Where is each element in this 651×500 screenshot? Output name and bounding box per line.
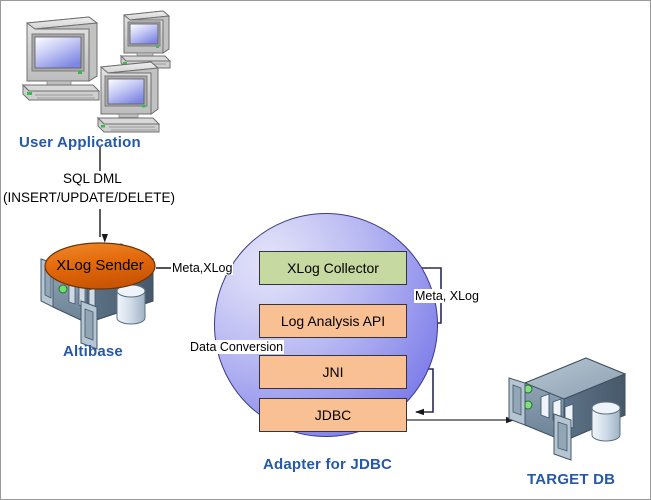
sql-dml-label-line1: SQL DML xyxy=(63,171,122,187)
box-xlog-collector-label: XLog Collector xyxy=(287,260,379,276)
adapter-label: Adapter for JDBC xyxy=(263,456,392,473)
server-rack-icon-target xyxy=(509,358,625,460)
data-conversion-label: Data Conversion xyxy=(189,340,284,354)
meta-xlog-right-label: Meta, XLog xyxy=(414,289,480,303)
box-log-analysis-api-label: Log Analysis API xyxy=(281,313,385,329)
database-cylinder-icon-altibase xyxy=(117,285,145,324)
sql-dml-label-line2: (INSERT/UPDATE/DELETE) xyxy=(3,190,175,206)
meta-xlog-in-label: Meta,XLog xyxy=(171,261,233,275)
xlog-sender-label: XLog Sender xyxy=(45,257,155,274)
box-jdbc[interactable]: JDBC xyxy=(259,398,407,432)
altibase-label: Altibase xyxy=(63,343,123,360)
database-cylinder-icon-target xyxy=(592,402,620,441)
target-db-label: TARGET DB xyxy=(527,471,615,488)
box-jni-label: JNI xyxy=(323,364,344,380)
desktop-computer-icon-2 xyxy=(121,11,170,68)
box-xlog-collector[interactable]: XLog Collector xyxy=(259,251,407,285)
user-application-label: User Application xyxy=(19,134,141,151)
architecture-diagram: XLog Collector Log Analysis API JNI JDBC… xyxy=(0,0,651,500)
box-log-analysis-api[interactable]: Log Analysis API xyxy=(259,304,407,338)
box-jdbc-label: JDBC xyxy=(315,407,352,423)
desktop-computer-icon-3 xyxy=(98,62,159,132)
box-jni[interactable]: JNI xyxy=(259,355,407,389)
desktop-computer-icon-1 xyxy=(23,17,99,100)
